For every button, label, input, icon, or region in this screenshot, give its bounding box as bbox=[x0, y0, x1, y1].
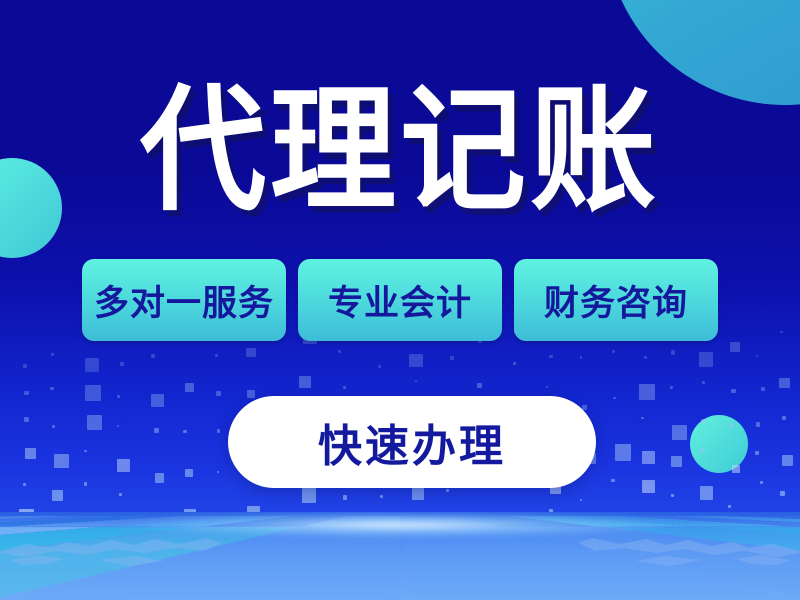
page-title: 代理记账 bbox=[0, 83, 800, 219]
particle-square bbox=[247, 390, 255, 398]
grid-tile bbox=[616, 516, 800, 527]
particle-square bbox=[299, 376, 311, 388]
particle-square bbox=[549, 355, 552, 358]
particle-square bbox=[760, 481, 763, 484]
feature-badge-2-label: 专业会计 bbox=[328, 275, 472, 326]
particle-square bbox=[185, 469, 193, 477]
particle-square bbox=[412, 488, 424, 500]
particle-square bbox=[702, 381, 705, 384]
particle-square bbox=[338, 350, 341, 353]
grid-tile bbox=[778, 516, 800, 527]
particle-square bbox=[85, 385, 101, 401]
feature-badge-list: 多对一服务 专业会计 财务咨询 bbox=[0, 259, 800, 341]
particle-square bbox=[151, 354, 155, 358]
grid-tile bbox=[724, 516, 800, 527]
particle-square bbox=[343, 495, 348, 500]
feature-badge-2[interactable]: 专业会计 bbox=[298, 259, 502, 341]
particle-square bbox=[217, 429, 221, 433]
particle-square bbox=[51, 353, 54, 356]
particle-square bbox=[641, 417, 643, 419]
particle-square bbox=[215, 354, 218, 357]
particle-square bbox=[642, 480, 655, 493]
feature-badge-1-label: 多对一服务 bbox=[94, 275, 274, 326]
particle-square bbox=[52, 490, 62, 500]
particle-square bbox=[117, 425, 119, 427]
particle-square bbox=[183, 430, 187, 434]
particle-square bbox=[24, 391, 28, 395]
particle-square bbox=[582, 405, 587, 410]
particle-square bbox=[700, 448, 704, 452]
particle-square bbox=[731, 389, 735, 393]
particle-square bbox=[154, 428, 159, 433]
particle-square bbox=[613, 397, 615, 399]
particle-square bbox=[378, 365, 381, 368]
particle-square bbox=[782, 416, 786, 420]
particle-square bbox=[671, 494, 674, 497]
particle-square bbox=[701, 419, 706, 424]
poster-banner: 代理记账 多对一服务 专业会计 财务咨询 快速办理 bbox=[0, 0, 800, 600]
particle-square bbox=[415, 380, 417, 382]
particle-square bbox=[670, 386, 673, 389]
particle-square bbox=[52, 425, 56, 429]
particle-square bbox=[756, 422, 761, 427]
particle-square bbox=[302, 488, 316, 502]
grid-tile bbox=[401, 516, 499, 527]
particle-square bbox=[84, 482, 87, 485]
particle-square bbox=[728, 505, 732, 509]
particle-square bbox=[615, 444, 631, 460]
particle-square bbox=[120, 362, 125, 367]
particle-square bbox=[246, 348, 256, 358]
particle-square bbox=[730, 342, 740, 352]
particle-square bbox=[155, 473, 165, 483]
particle-square bbox=[117, 395, 120, 398]
particle-square bbox=[782, 455, 794, 467]
particle-square bbox=[477, 383, 482, 388]
particle-square bbox=[185, 383, 194, 392]
particle-square bbox=[380, 495, 383, 498]
particle-square bbox=[343, 386, 346, 389]
particle-square bbox=[24, 417, 29, 422]
particle-square bbox=[732, 465, 740, 473]
feature-badge-3-label: 财务咨询 bbox=[544, 275, 688, 326]
particle-square bbox=[699, 352, 713, 366]
particle-square bbox=[23, 364, 27, 368]
grid-tile bbox=[508, 516, 696, 527]
particle-square bbox=[780, 491, 785, 496]
cta-button-label: 快速办理 bbox=[318, 410, 506, 474]
grid-wrapper bbox=[0, 516, 800, 600]
perspective-grid-floor bbox=[0, 512, 800, 600]
particle-square bbox=[546, 386, 548, 388]
particle-square bbox=[50, 387, 53, 390]
cta-button[interactable]: 快速办理 bbox=[228, 396, 596, 488]
grid-tile bbox=[562, 516, 795, 527]
particle-square bbox=[409, 354, 423, 368]
particle-square bbox=[54, 454, 68, 468]
particle-square bbox=[700, 486, 714, 500]
particle-square bbox=[23, 483, 26, 486]
feature-badge-1[interactable]: 多对一服务 bbox=[82, 259, 286, 341]
particle-square bbox=[25, 448, 37, 460]
particle-square bbox=[761, 387, 765, 391]
particle-square bbox=[671, 456, 682, 467]
particle-square bbox=[756, 355, 758, 357]
particle-square bbox=[446, 489, 450, 493]
particle-square bbox=[216, 391, 221, 396]
particle-square bbox=[644, 356, 647, 359]
particle-square bbox=[84, 450, 87, 453]
particle-square bbox=[729, 423, 734, 428]
particle-square bbox=[450, 356, 454, 360]
grid-tile bbox=[401, 527, 800, 600]
feature-badge-3[interactable]: 财务咨询 bbox=[514, 259, 718, 341]
particle-square bbox=[580, 356, 583, 359]
particle-square bbox=[639, 384, 655, 400]
particle-square bbox=[217, 471, 219, 473]
particle-square bbox=[87, 415, 102, 430]
particle-square bbox=[513, 362, 516, 365]
particle-square bbox=[580, 499, 582, 501]
particle-square bbox=[755, 451, 759, 455]
particle-square bbox=[672, 425, 687, 440]
grid-tile bbox=[670, 516, 800, 527]
particle-square bbox=[611, 479, 614, 482]
particle-square bbox=[85, 358, 98, 371]
particle-square bbox=[779, 378, 789, 388]
particle-square bbox=[119, 493, 122, 496]
particle-square bbox=[671, 350, 675, 354]
particle-square bbox=[642, 451, 655, 464]
particle-square bbox=[151, 394, 164, 407]
particle-square bbox=[117, 459, 130, 472]
particle-square bbox=[612, 350, 614, 352]
